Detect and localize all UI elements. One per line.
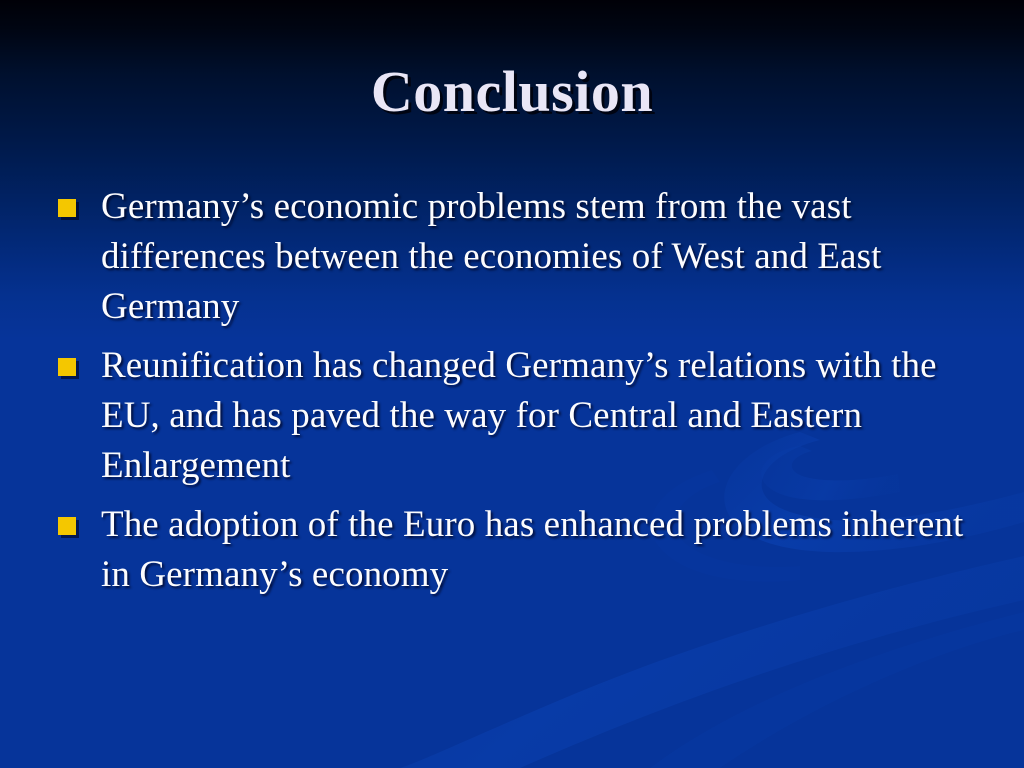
- presentation-slide: Conclusion Germany’s economic problems s…: [0, 0, 1024, 768]
- bullet-text: Reunification has changed Germany’s rela…: [101, 341, 988, 491]
- bullet-list-item: The adoption of the Euro has enhanced pr…: [58, 500, 988, 600]
- slide-body-content: Germany’s economic problems stem from th…: [58, 182, 988, 609]
- square-bullet-icon: [58, 199, 76, 217]
- bullet-list-item: Germany’s economic problems stem from th…: [58, 182, 988, 332]
- bullet-text: Germany’s economic problems stem from th…: [101, 182, 988, 332]
- bullet-list-item: Reunification has changed Germany’s rela…: [58, 341, 988, 491]
- bullet-text: The adoption of the Euro has enhanced pr…: [101, 500, 988, 600]
- square-bullet-icon: [58, 517, 76, 535]
- slide-title: Conclusion: [0, 58, 1024, 125]
- square-bullet-icon: [58, 358, 76, 376]
